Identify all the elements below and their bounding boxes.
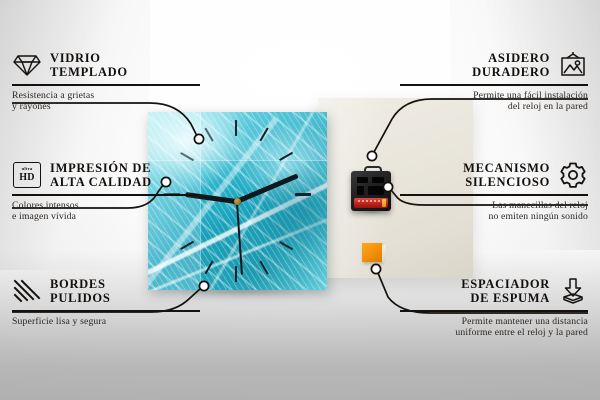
feature-espaciador-espuma[interactable]: ESPACIADOR DE ESPUMA Permite mantener un… xyxy=(400,276,588,338)
movement-battery xyxy=(354,198,388,208)
infographic-canvas: VIDRIO TEMPLADO Resistencia a grietas y … xyxy=(0,0,600,400)
feature-subtitle: Colores intensos e imagen vívida xyxy=(12,200,200,223)
movement-notch xyxy=(357,177,368,183)
polished-edges-icon xyxy=(12,276,42,306)
arrow-down-pad-icon xyxy=(558,276,588,306)
feature-vidrio-templado[interactable]: VIDRIO TEMPLADO Resistencia a grietas y … xyxy=(12,50,200,112)
feature-subtitle: Permite mantener una distancia uniforme … xyxy=(400,316,588,339)
feature-subtitle: Resistencia a grietas y rayones xyxy=(12,90,200,113)
hanging-frame-icon xyxy=(558,50,588,80)
feature-asidero-duradero[interactable]: ASIDERO DURADERO Permite una fácil insta… xyxy=(400,50,588,112)
battery-label-lines xyxy=(358,200,380,202)
feature-mecanismo-silencioso[interactable]: MECANISMO SILENCIOSO Las manecillas del … xyxy=(400,160,588,222)
ultra-hd-icon: ultra HD xyxy=(12,160,42,190)
diamond-icon xyxy=(12,50,42,80)
feature-subtitle: Permite una fácil instalación del reloj … xyxy=(400,90,588,113)
gear-icon xyxy=(558,160,588,190)
feature-rule xyxy=(12,310,200,312)
feature-subtitle: Superficie lisa y segura xyxy=(12,316,200,327)
movement-notch xyxy=(372,177,384,183)
movement-notch xyxy=(357,186,364,195)
feature-rule xyxy=(400,84,588,86)
foam-spacer xyxy=(362,243,382,262)
feature-title: ASIDERO DURADERO xyxy=(472,51,550,79)
feature-title: VIDRIO TEMPLADO xyxy=(50,51,128,79)
feature-bordes-pulidos[interactable]: BORDES PULIDOS Superficie lisa y segura xyxy=(12,276,200,327)
feature-title: IMPRESIÓN DE ALTA CALIDAD xyxy=(50,161,152,189)
feature-subtitle: Las manecillas del reloj no emiten ningú… xyxy=(400,200,588,223)
feature-rule xyxy=(400,194,588,196)
foam-spacer-side xyxy=(382,244,386,262)
feature-title: BORDES PULIDOS xyxy=(50,277,110,305)
feature-rule xyxy=(12,84,200,86)
feature-title: ESPACIADOR DE ESPUMA xyxy=(461,277,550,305)
feature-title: MECANISMO SILENCIOSO xyxy=(463,161,550,189)
feature-rule xyxy=(400,310,588,312)
feature-rule xyxy=(12,194,200,196)
clock-movement xyxy=(351,171,391,211)
movement-notch xyxy=(368,186,384,195)
ultra-hd-icon-main-text: HD xyxy=(19,173,35,183)
feature-impresion-alta-calidad[interactable]: ultra HD IMPRESIÓN DE ALTA CALIDAD Color… xyxy=(12,160,200,222)
